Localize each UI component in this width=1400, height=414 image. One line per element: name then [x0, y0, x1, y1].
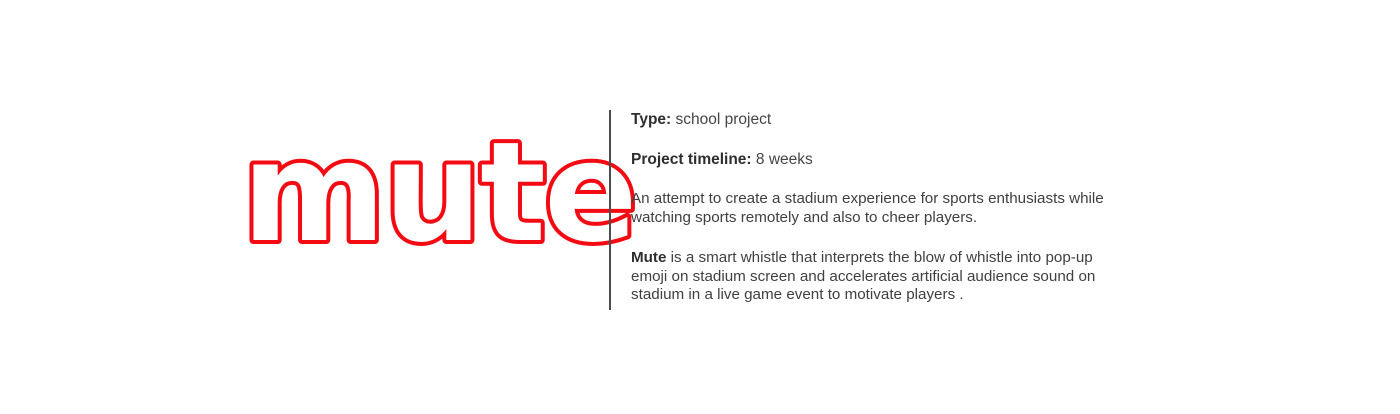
product-paragraph: Mute is a smart whistle that interprets … — [631, 249, 1131, 305]
project-summary-page: mute Type: school project Project timeli… — [0, 0, 1400, 414]
info-panel: Type: school project Project timeline: 8… — [631, 110, 1131, 305]
meta-label-type: Type: — [631, 111, 671, 128]
meta-row-type: Type: school project — [631, 110, 1131, 129]
meta-label-timeline: Project timeline: — [631, 151, 752, 168]
brand-logo: mute — [240, 128, 600, 258]
brand-wordmark-text: mute — [242, 112, 636, 273]
vertical-divider — [609, 110, 611, 310]
meta-row-timeline: Project timeline: 8 weeks — [631, 150, 1131, 169]
brand-logo-svg: mute — [240, 128, 600, 258]
meta-value-type: school project — [676, 111, 772, 128]
meta-value-timeline: 8 weeks — [756, 151, 813, 168]
product-description-text: is a smart whistle that interprets the b… — [631, 249, 1095, 303]
description-text: An attempt to create a stadium experienc… — [631, 190, 1104, 226]
product-name-lead: Mute — [631, 249, 666, 266]
description-paragraph: An attempt to create a stadium experienc… — [631, 190, 1131, 227]
